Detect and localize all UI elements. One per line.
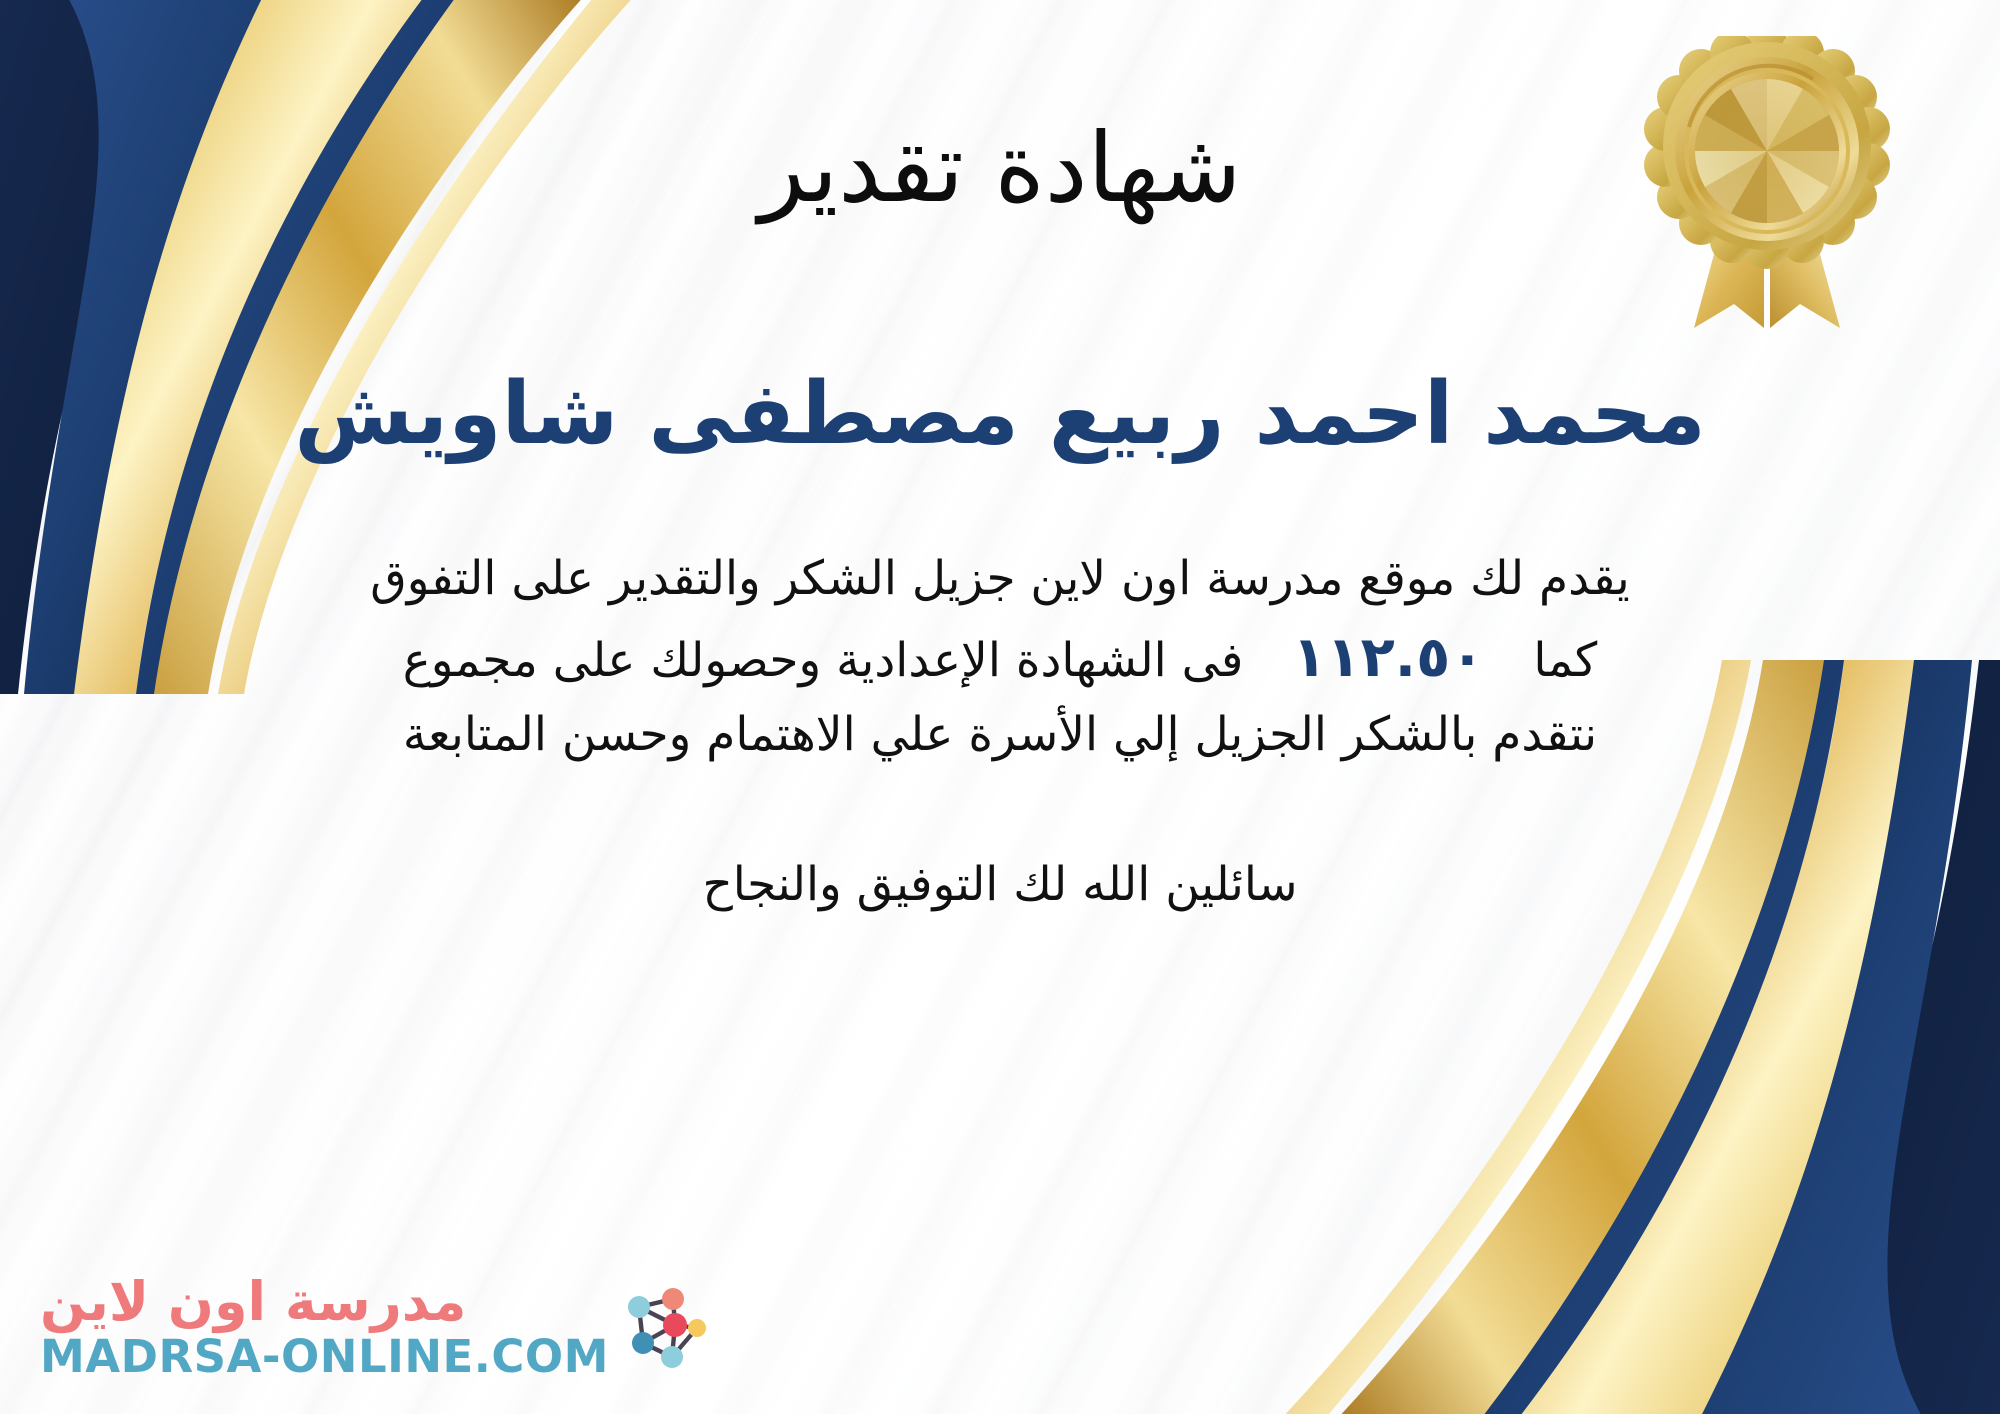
recipient-name: محمد احمد ربيع مصطفى شاويش: [294, 367, 1706, 462]
body-line-2: كما ١١٢.٥٠ فى الشهادة الإعدادية وحصولك ع…: [220, 616, 1780, 700]
brand-text-block: مدرسة اون لاين MADRSA-ONLINE.COM: [40, 1274, 609, 1380]
network-nodes-icon: [617, 1281, 709, 1373]
brand-arabic-name: مدرسة اون لاين: [40, 1274, 466, 1331]
brand-logo[interactable]: مدرسة اون لاين MADRSA-ONLINE.COM: [40, 1274, 711, 1380]
total-score-value: ١١٢.٥٠: [1258, 625, 1518, 690]
closing-line: سائلين الله لك التوفيق والنجاح: [702, 857, 1297, 912]
certificate-content: شهادة تقدير محمد احمد ربيع مصطفى شاويش ي…: [0, 0, 2000, 1414]
brand-website-url: MADRSA-ONLINE.COM: [40, 1333, 609, 1380]
body-line-2-suffix: كما: [1533, 633, 1597, 688]
certificate-body: يقدم لك موقع مدرسة اون لاين جزيل الشكر و…: [220, 543, 1780, 771]
certificate-canvas: شهادة تقدير محمد احمد ربيع مصطفى شاويش ي…: [0, 0, 2000, 1414]
certificate-title: شهادة تقدير: [759, 118, 1242, 219]
body-line-3: نتقدم بالشكر الجزيل إلي الأسرة علي الاهت…: [220, 699, 1780, 771]
body-line-1: يقدم لك موقع مدرسة اون لاين جزيل الشكر و…: [220, 543, 1780, 615]
body-line-2-prefix: فى الشهادة الإعدادية وحصولك على مجموع: [403, 633, 1244, 688]
